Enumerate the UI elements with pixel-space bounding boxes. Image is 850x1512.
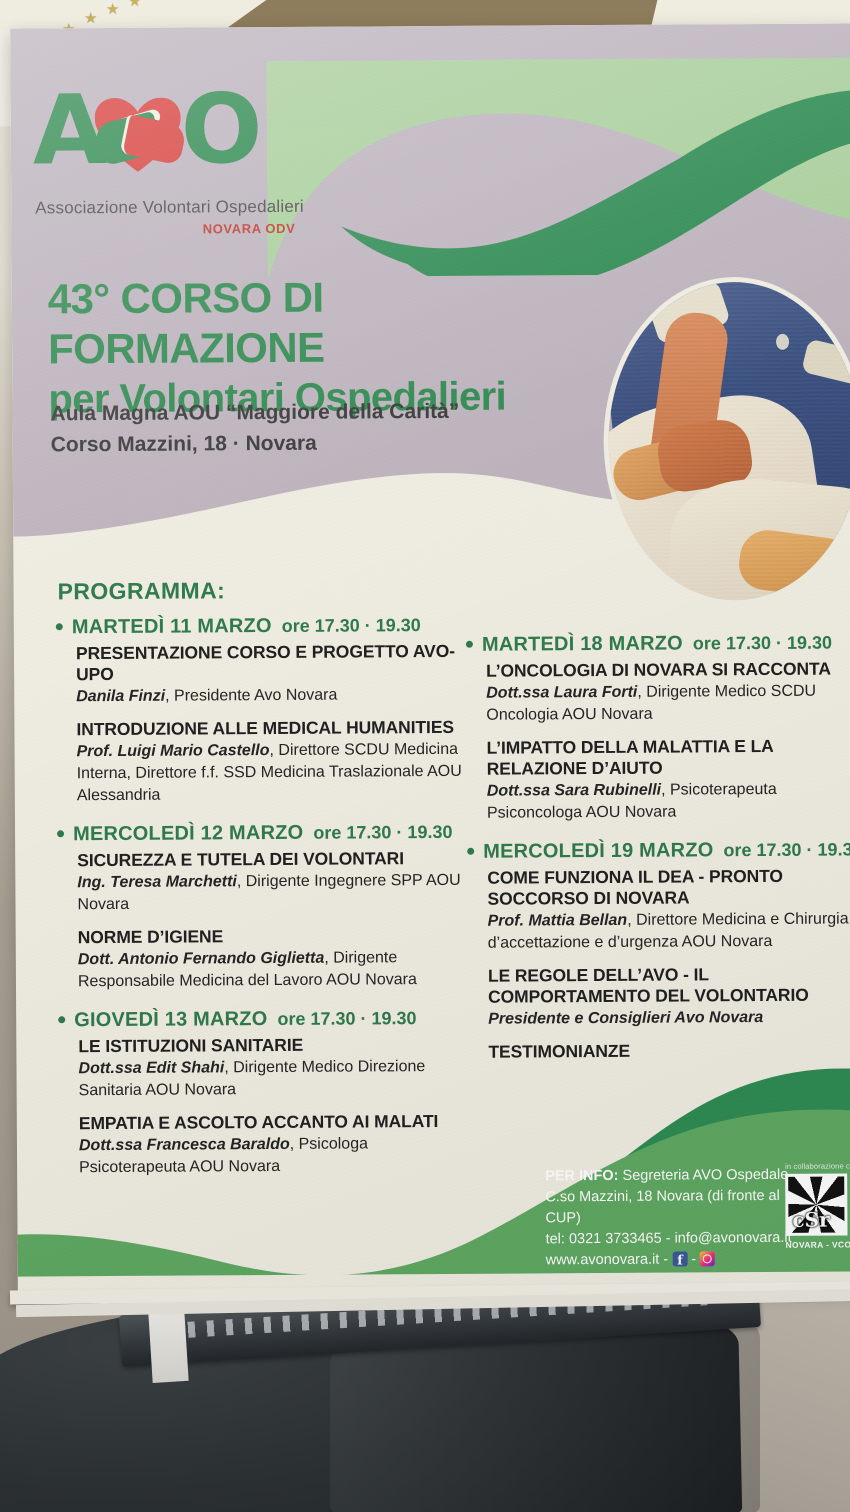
talk-speaker-name: Dott. Antonio Fernando Giglietta [78,950,325,969]
venue-line-2: Corso Mazzini, 18 · Novara [51,426,591,460]
talk-speaker-name: Dott.ssa Sara Rubinelli [487,782,661,800]
talk-speaker-name: Dott.ssa Laura Forti [486,684,637,702]
csr-logo [785,1174,847,1236]
programme-day-header: MERCOLEDÌ 12 MARZOore 17.30 · 19.30 [57,821,467,847]
bullet-icon [57,830,64,837]
talk-speaker-line: Ing. Teresa Marchetti, Dirigente Ingegne… [77,870,467,916]
talk-speaker-name: Presidente e Consiglieri Avo Novara [488,1009,763,1028]
heart-handshake-icon [95,98,181,177]
bullet-icon [56,623,63,630]
talk-speaker-name: Dott.ssa Francesca Baraldo [79,1136,290,1154]
programme-talk-list: PRESENTAZIONE CORSO E PROGETTO AVO-UPODa… [76,641,467,807]
talk-title: LE ISTITUZIONI SANITARIE [78,1034,468,1057]
programme-day-name: GIOVEDÌ 13 MARZO [74,1008,267,1032]
programme-left-column: MARTEDÌ 11 MARZOore 17.30 · 19.30PRESENT… [56,614,470,1195]
programme-talk: SICUREZZA E TUTELA DEI VOLONTARIIng. Ter… [77,848,467,916]
collaboration-subtitle: NOVARA - VCO [786,1239,850,1249]
talk-title: NORME D’IGIENE [78,925,468,948]
programme-day-time: ore 17.30 · 19.30 [277,1008,416,1030]
programme-day-time: ore 17.30 · 19.30 [693,633,832,655]
contact-website[interactable]: www.avonovara.it [546,1252,660,1269]
programme-talk: L’ONCOLOGIA DI NOVARA SI RACCONTADott.ss… [486,658,850,726]
collaboration-caption: in collaborazione con: [785,1161,850,1170]
avo-logo-mark: A O [33,89,266,190]
programme-talk: LE REGOLE DELL’AVO - IL COMPORTAMENTO DE… [488,963,850,1030]
programme-talk: TESTIMONIANZE [488,1039,850,1062]
talk-speaker-name: Dott.ssa Edit Shahi [78,1059,224,1077]
avo-course-poster: A O Associazione Volontari Ospedalieri N… [10,23,850,1293]
programme-talk: L’IMPATTO DELLA MALATTIA E LA RELAZIONE … [486,735,850,824]
talk-speaker-line: Dott. Antonio Fernando Giglietta, Dirige… [78,947,468,993]
programme-day-time: ore 17.30 · 19.30 [282,615,421,637]
programme-day-header: MARTEDÌ 11 MARZOore 17.30 · 19.30 [56,614,466,640]
hands-photo [608,281,850,601]
programme-talk: EMPATIA E ASCOLTO ACCANTO AI MALATIDott.… [79,1111,469,1179]
logo-letter-o: O [180,81,262,177]
programme-day-header: GIOVEDÌ 13 MARZOore 17.30 · 19.30 [58,1007,468,1033]
contact-line-1: PER INFO: Segreteria AVO Ospedale [545,1165,795,1188]
talk-title: LE REGOLE DELL’AVO - IL COMPORTAMENTO DE… [488,963,850,1007]
talk-speaker-line: Prof. Mattia Bellan, Direttore Medicina … [488,908,850,954]
programme-day-header: MARTEDÌ 18 MARZOore 17.30 · 19.30 [466,631,850,656]
talk-title: COME FUNZIONA IL DEA - PRONTO SOCCORSO D… [487,865,850,909]
talk-speaker-line: Dott.ssa Laura Forti, Dirigente Medico S… [486,680,850,726]
talk-speaker-name: Ing. Teresa Marchetti [77,873,237,891]
programme-talk: COME FUNZIONA IL DEA - PRONTO SOCCORSO D… [487,865,850,954]
programme-day-name: MARTEDÌ 18 MARZO [482,632,683,656]
programme-talk: LE ISTITUZIONI SANITARIEDott.ssa Edit Sh… [78,1034,468,1102]
programme-day-name: MARTEDÌ 11 MARZO [72,615,272,639]
bullet-icon [466,641,473,648]
talk-speaker-line: Dott.ssa Francesca Baraldo, Psicologa Ps… [79,1133,469,1179]
bullet-icon [58,1016,65,1023]
contact-web-social: www.avonovara.it - - [546,1249,796,1272]
contact-office: Segreteria AVO Ospedale [618,1167,788,1184]
talk-speaker-line: Danila Finzi, Presidente Avo Novara [76,684,466,708]
contact-info-label: PER INFO: [545,1168,618,1184]
programme-day-header: MERCOLEDÌ 19 MARZOore 17.30 · 19.30 [467,838,850,863]
talk-title: L’ONCOLOGIA DI NOVARA SI RACCONTA [486,658,850,681]
programme-talk-list: L’ONCOLOGIA DI NOVARA SI RACCONTADott.ss… [486,658,850,824]
programme-talk-list: LE ISTITUZIONI SANITARIEDott.ssa Edit Sh… [78,1034,469,1179]
programme-day-time: ore 17.30 · 19.30 [723,839,850,861]
talk-speaker-line: Dott.ssa Edit Shahi, Dirigente Medico Di… [78,1056,468,1102]
talk-speaker-name: Danila Finzi [76,688,165,706]
contact-phone-email: tel: 0321 3733465 - info@avonovara.it [545,1228,795,1251]
organization-chapter: NOVARA ODV [203,221,296,237]
programme-heading: PROGRAMMA: [58,577,226,605]
contact-info: PER INFO: Segreteria AVO Ospedale C.so M… [545,1165,796,1272]
programme-day-time: ore 17.30 · 19.30 [313,822,452,844]
instagram-icon[interactable] [700,1251,715,1266]
talk-title: L’IMPATTO DELLA MALATTIA E LA RELAZIONE … [486,735,850,779]
talk-title: SICUREZZA E TUTELA DEI VOLONTARI [77,848,467,871]
photo-of-poster: ★ ★ ★ ★ ★ A O Associazione Volontari Osp… [0,0,850,1512]
separator-2: - [687,1251,700,1267]
facebook-icon[interactable] [672,1251,687,1266]
talk-title: EMPATIA E ASCOLTO ACCANTO AI MALATI [79,1111,469,1134]
bullet-icon [467,848,474,855]
programme-right-column: MARTEDÌ 18 MARZOore 17.30 · 19.30L’ONCOL… [466,631,850,1078]
collaboration-block: in collaborazione con: NOVARA - VCO [785,1161,850,1249]
talk-speaker-name: Prof. Mattia Bellan [488,912,628,930]
separator-1: - [659,1252,672,1268]
contact-address: C.so Mazzini, 18 Novara (di fronte al CU… [545,1186,795,1230]
talk-speaker-role: , Presidente Avo Novara [165,687,337,705]
talk-title: PRESENTAZIONE CORSO E PROGETTO AVO-UPO [76,641,466,685]
programme-talk-list: COME FUNZIONA IL DEA - PRONTO SOCCORSO D… [487,865,850,1062]
venue-line-1: Aula Magna AOU “Maggiore della Carità” [50,395,590,429]
photo-grain [608,281,850,601]
avo-logo: A O Associazione Volontari Ospedalieri N… [33,89,296,241]
talk-speaker-line: Prof. Luigi Mario Castello, Direttore SC… [76,739,466,807]
organization-name: Associazione Volontari Ospedalieri [35,197,304,219]
talk-speaker-line: Dott.ssa Sara Rubinelli, Psicoterapeuta … [487,778,850,824]
csr-logo-pattern [788,1177,844,1233]
programme-day-name: MERCOLEDÌ 19 MARZO [483,839,713,863]
title-line-1: 43° CORSO DI FORMAZIONE [48,271,609,374]
talk-title: TESTIMONIANZE [488,1039,850,1062]
talk-title: INTRODUZIONE ALLE MEDICAL HUMANITIES [76,717,466,740]
talk-speaker-name: Prof. Luigi Mario Castello [77,742,270,760]
programme-talk: INTRODUZIONE ALLE MEDICAL HUMANITIESProf… [76,717,467,807]
programme-talk-list: SICUREZZA E TUTELA DEI VOLONTARIIng. Ter… [77,848,468,993]
talk-speaker-line: Presidente e Consiglieri Avo Novara [488,1006,850,1030]
programme-talk: PRESENTAZIONE CORSO E PROGETTO AVO-UPODa… [76,641,466,708]
venue-block: Aula Magna AOU “Maggiore della Carità” C… [50,395,590,460]
programme-day-name: MERCOLEDÌ 12 MARZO [73,822,303,846]
programme-talk: NORME D’IGIENEDott. Antonio Fernando Gig… [78,925,468,993]
